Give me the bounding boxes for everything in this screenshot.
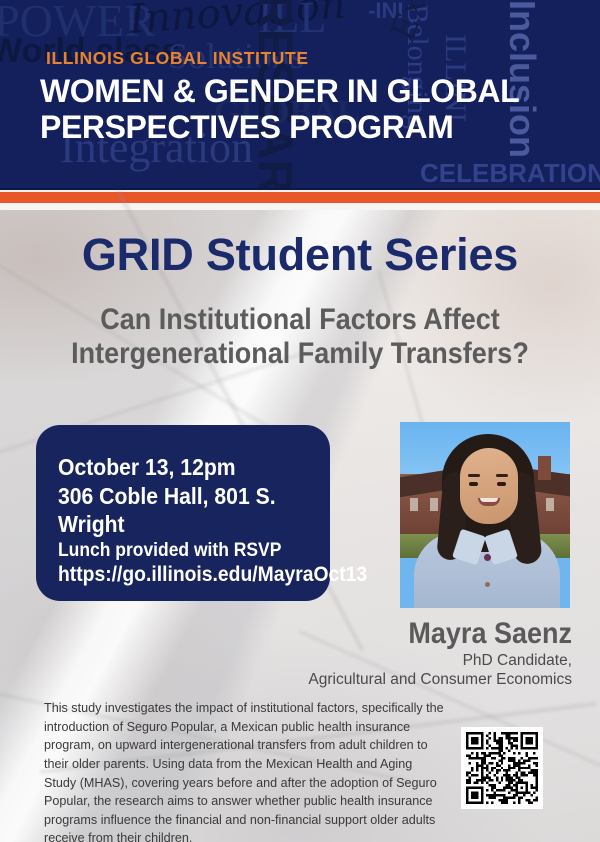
event-details-lines: October 13, 12pm 306 Coble Hall, 801 S. … bbox=[58, 453, 297, 588]
photo-window bbox=[410, 498, 418, 511]
event-details-box: October 13, 12pm 306 Coble Hall, 801 S. … bbox=[36, 425, 330, 601]
photo-window bbox=[430, 498, 438, 511]
abstract-text: This study investigates the impact of in… bbox=[44, 699, 444, 842]
photo-face bbox=[460, 448, 518, 524]
photo-eye-right bbox=[497, 482, 506, 486]
header-title-line1: WOMEN & GENDER IN GLOBAL bbox=[40, 74, 519, 109]
header-title-line2: PERSPECTIVES PROGRAM bbox=[40, 110, 453, 145]
talk-subtitle-line1: Can Institutional Factors Affect bbox=[48, 303, 552, 337]
photo-teeth bbox=[480, 498, 498, 502]
header-banner: POWERInnovationILL-INIBelongingInclusion… bbox=[0, 0, 600, 188]
event-datetime: October 13, 12pm bbox=[58, 453, 297, 482]
talk-subtitle: Can Institutional Factors Affect Interge… bbox=[48, 303, 552, 370]
qr-code-image bbox=[466, 732, 538, 804]
photo-brow-right bbox=[496, 474, 508, 477]
event-lunch-note: Lunch provided with RSVP bbox=[58, 539, 297, 563]
speaker-name: Mayra Saenz bbox=[291, 617, 572, 651]
header-eyebrow: ILLINOIS GLOBAL INSTITUTE bbox=[46, 48, 309, 69]
speaker-role: PhD Candidate, Agricultural and Consumer… bbox=[200, 651, 572, 690]
photo-window bbox=[546, 498, 554, 511]
poster: POWERInnovationILL-INIBelongingInclusion… bbox=[0, 0, 600, 842]
page-title: GRID Student Series bbox=[0, 229, 600, 281]
photo-pendant bbox=[484, 554, 491, 561]
speaker-role-line2: Agricultural and Consumer Economics bbox=[200, 670, 572, 689]
photo-button bbox=[485, 582, 490, 587]
speaker-role-line1: PhD Candidate, bbox=[200, 651, 572, 670]
event-rsvp-link[interactable]: https://go.illinois.edu/MayraOct13 bbox=[58, 562, 297, 588]
speaker-photo bbox=[400, 422, 570, 608]
qr-code[interactable] bbox=[461, 727, 543, 809]
divider-orange-rule bbox=[0, 192, 600, 203]
photo-chimney bbox=[538, 456, 551, 480]
wordcloud-word: CELEBRATION bbox=[420, 160, 600, 186]
event-location: 306 Coble Hall, 801 S. Wright bbox=[58, 482, 297, 539]
photo-eye-left bbox=[469, 482, 478, 486]
photo-brow-left bbox=[468, 474, 480, 477]
divider-white-bottom bbox=[0, 203, 600, 210]
talk-subtitle-line2: Intergenerational Family Transfers? bbox=[48, 337, 552, 371]
